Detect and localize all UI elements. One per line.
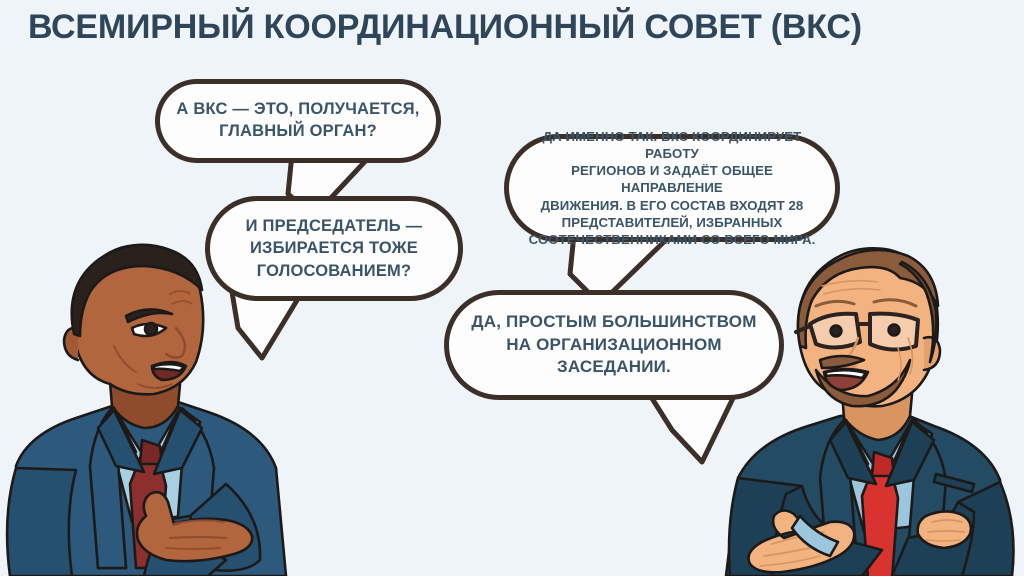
bubble-2-line-1: И ПРЕДСЕДАТЕЛЬ — bbox=[224, 215, 444, 237]
speech-bubble-answer-2: ДА, ПРОСТЫМ БОЛЬШИНСТВОМ НА ОРГАНИЗАЦИОН… bbox=[444, 290, 784, 400]
left-teeth bbox=[154, 364, 184, 371]
bubble-2-line-3: ГОЛОСОВАНИЕМ? bbox=[224, 260, 444, 282]
left-sleeve-far bbox=[7, 468, 76, 576]
right-pupil-right bbox=[889, 325, 900, 336]
character-right-man bbox=[712, 220, 1024, 576]
right-pupil-left bbox=[831, 326, 842, 337]
bubble-1-line-1: А ВКС — ЭТО, ПОЛУЧАЕТСЯ, bbox=[174, 99, 422, 121]
right-hand-folded bbox=[918, 511, 971, 548]
bubble-3-line-4: ПРЕДСТАВИТЕЛЕЙ, ИЗБРАННЫХ bbox=[523, 214, 821, 231]
bubble-3-line-3: ДВИЖЕНИЯ. В ЕГО СОСТАВ ВХОДЯТ 28 bbox=[523, 197, 821, 214]
bubble-3-line-5: СООТЕЧЕСТВЕННИКАМИ СО ВСЕГО МИРА. bbox=[523, 231, 821, 248]
page-title: ВСЕМИРНЫЙ КООРДИНАЦИОННЫЙ СОВЕТ (ВКС) bbox=[28, 9, 948, 46]
speech-bubble-question-1: А ВКС — ЭТО, ПОЛУЧАЕТСЯ, ГЛАВНЫЙ ОРГАН? bbox=[155, 79, 441, 163]
bubble-3-line-2: РЕГИОНОВ И ЗАДАЁТ ОБЩЕЕ НАПРАВЛЕНИЕ bbox=[523, 162, 821, 196]
speech-bubble-answer-1: ДА ИМЕННО ТАК. ВКС КООРДИНИРУЕТ РАБОТУ Р… bbox=[504, 134, 840, 242]
bubble-4-line-3: ЗАСЕДАНИИ. bbox=[463, 356, 765, 379]
bubble-4-line-2: НА ОРГАНИЗАЦИОННОМ bbox=[463, 334, 765, 357]
bubble-1-line-2: ГЛАВНЫЙ ОРГАН? bbox=[174, 121, 422, 143]
bubble-2-line-2: ИЗБИРАЕТСЯ ТОЖЕ bbox=[224, 237, 444, 259]
left-pupil bbox=[145, 323, 157, 335]
speech-bubble-question-2: И ПРЕДСЕДАТЕЛЬ — ИЗБИРАЕТСЯ ТОЖЕ ГОЛОСОВ… bbox=[205, 196, 463, 301]
bubble-4-tail bbox=[640, 388, 750, 470]
bubble-3-line-1: ДА ИМЕННО ТАК. ВКС КООРДИНИРУЕТ РАБОТУ bbox=[523, 128, 821, 162]
bubble-4-line-1: ДА, ПРОСТЫМ БОЛЬШИНСТВОМ bbox=[463, 311, 765, 334]
infographic-slide: ВСЕМИРНЫЙ КООРДИНАЦИОННЫЙ СОВЕТ (ВКС) bbox=[0, 0, 1024, 576]
